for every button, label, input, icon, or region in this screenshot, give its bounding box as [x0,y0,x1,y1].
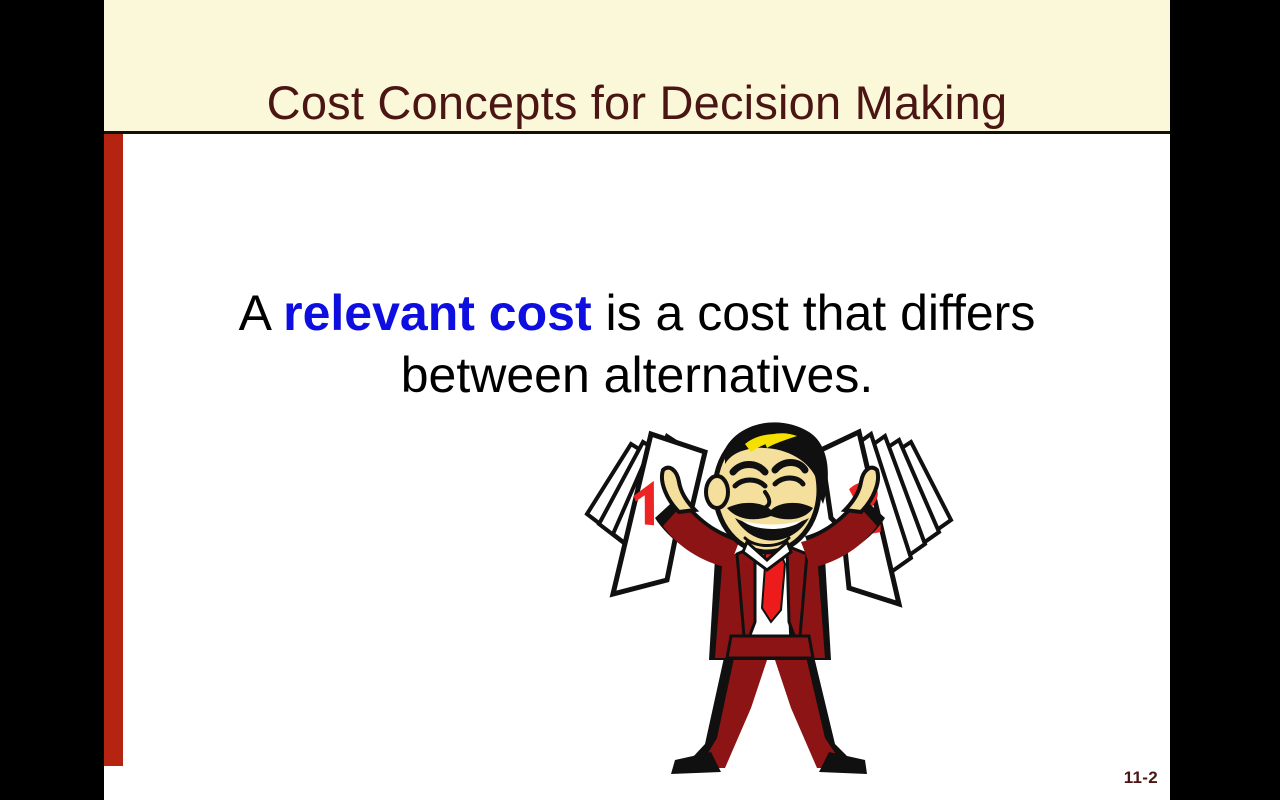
body-text-before: A [239,285,283,341]
slide-canvas: Cost Concepts for Decision Making A rele… [104,0,1170,800]
letterbox-right [1170,0,1280,800]
clipart-businessman-with-papers [559,408,979,776]
slide-body-text: A relevant cost is a cost that differs b… [164,282,1110,406]
page-number: 11-2 [1124,768,1158,788]
page-title: Cost Concepts for Decision Making [267,78,1008,127]
body-text-highlight: relevant cost [283,285,591,341]
accent-rail [104,134,123,766]
slide-viewer: Cost Concepts for Decision Making A rele… [0,0,1280,800]
letterbox-left [0,0,104,800]
slide-title-band: Cost Concepts for Decision Making [104,0,1170,134]
